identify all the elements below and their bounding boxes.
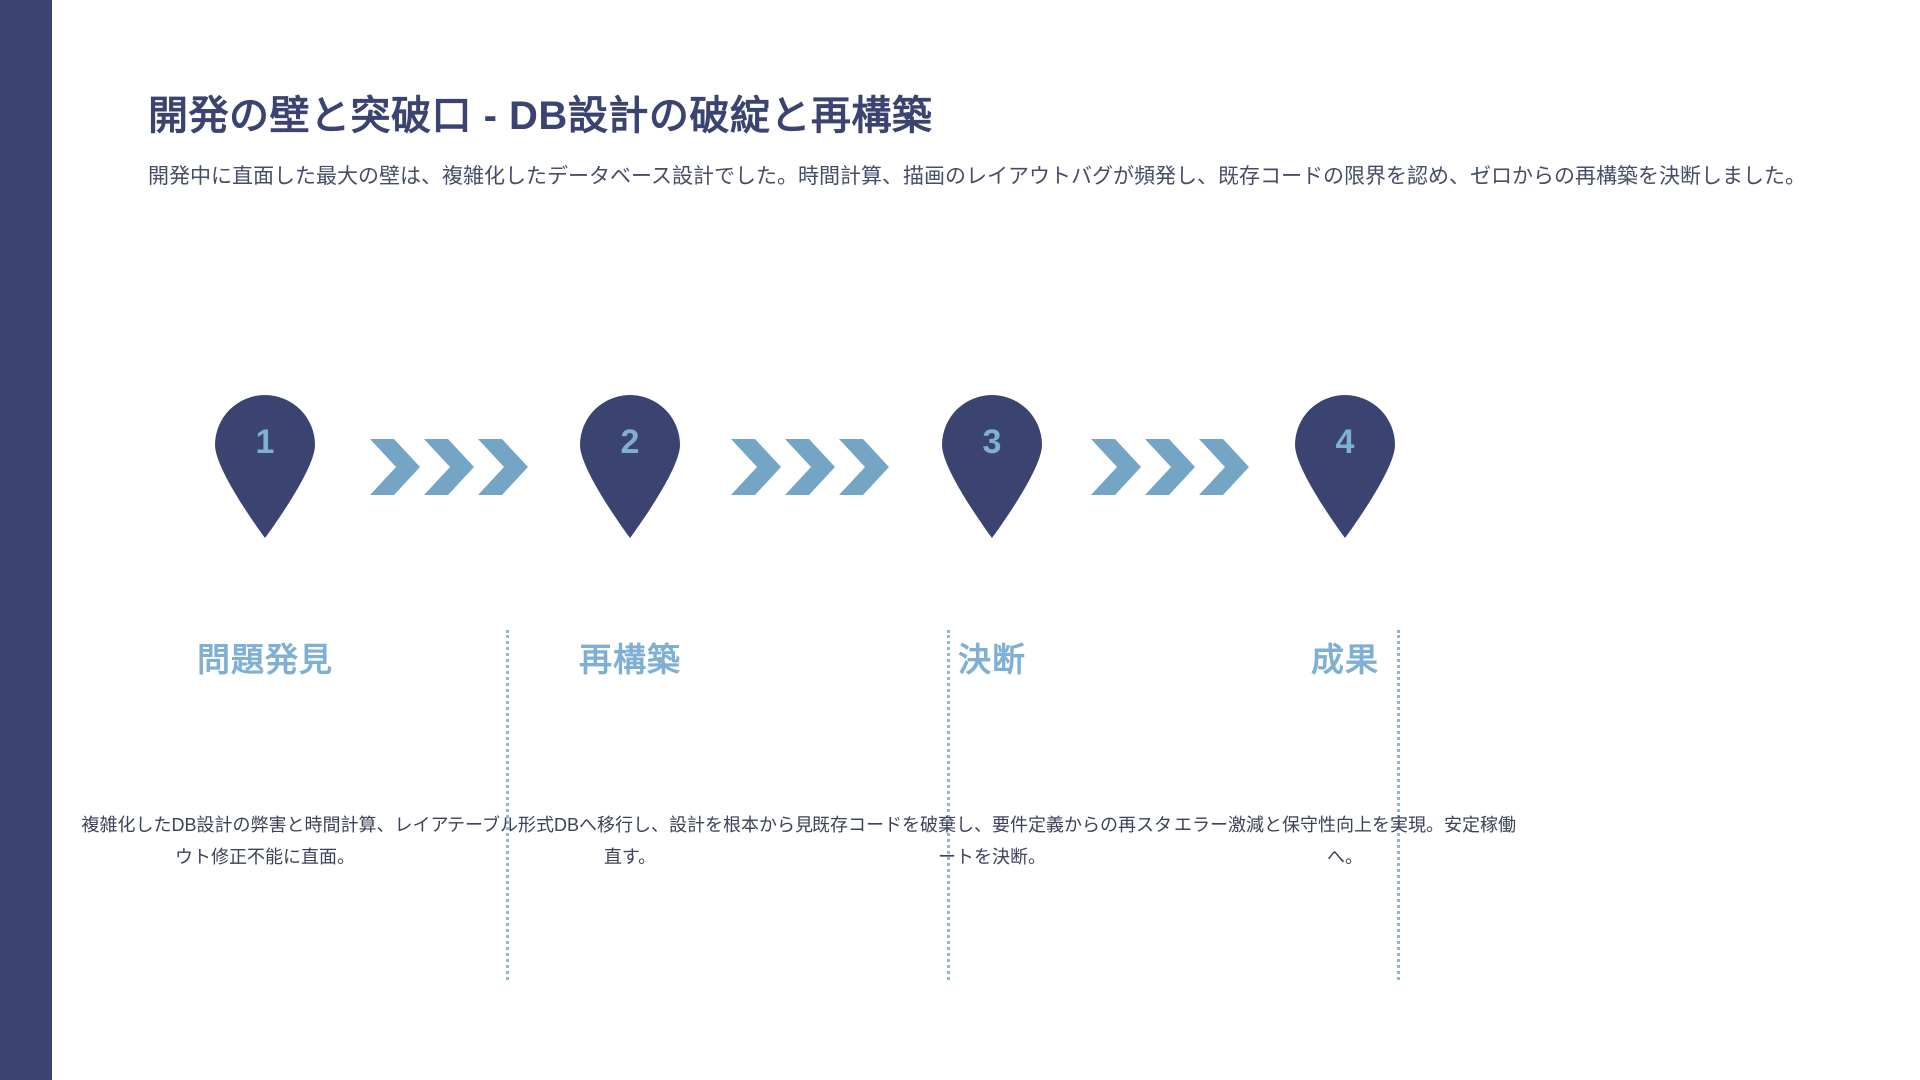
chevron-right-icon xyxy=(424,439,474,495)
slide-canvas: 開発の壁と突破口 - DB設計の破綻と再構築 開発中に直面した最大の壁は、複雑化… xyxy=(0,0,1920,1080)
left-accent-bar xyxy=(0,0,52,1080)
map-pin-icon: 1 xyxy=(209,395,321,538)
step-pin-2[interactable]: 2 xyxy=(571,395,689,540)
step-pin-4[interactable]: 4 xyxy=(1286,395,1404,540)
chevron-right-icon xyxy=(370,439,420,495)
chevron-right-icon xyxy=(785,439,835,495)
page-subtitle: 開発中に直面した最大の壁は、複雑化したデータベース設計でした。時間計算、描画のレ… xyxy=(148,160,1818,194)
step-description-1: 複雑化したDB設計の弊害と時間計算、レイアウト修正不能に直面。 xyxy=(80,810,450,873)
step-label-4: 成果 xyxy=(1175,640,1515,680)
chevron-right-icon xyxy=(478,439,528,495)
chevron-right-icon xyxy=(1145,439,1195,495)
map-pin-icon: 4 xyxy=(1289,395,1401,538)
map-pin-icon: 2 xyxy=(574,395,686,538)
step-pin-1[interactable]: 1 xyxy=(206,395,324,540)
step-description-3: 既存コードを破棄し、要件定義からの再スタートを決断。 xyxy=(807,810,1177,873)
step-description-2: テーブル形式DBへ移行し、設計を根本から見直す。 xyxy=(445,810,815,873)
chevron-group-3-4 xyxy=(1091,439,1249,495)
step-label-3: 決断 xyxy=(822,640,1162,680)
chevron-right-icon xyxy=(839,439,889,495)
chevron-right-icon xyxy=(1199,439,1249,495)
step-label-1: 問題発見 xyxy=(95,640,435,680)
step-pin-3[interactable]: 3 xyxy=(933,395,1051,540)
slide-header: 開発の壁と突破口 - DB設計の破綻と再構築 開発中に直面した最大の壁は、複雑化… xyxy=(148,92,1848,194)
page-title: 開発の壁と突破口 - DB設計の破綻と再構築 xyxy=(148,92,1848,140)
chevron-right-icon xyxy=(1091,439,1141,495)
step-description-row: 複雑化したDB設計の弊害と時間計算、レイアウト修正不能に直面。 テーブル形式DB… xyxy=(52,810,1920,900)
step-label-2: 再構築 xyxy=(460,640,800,680)
chevron-group-2-3 xyxy=(731,439,889,495)
chevron-right-icon xyxy=(731,439,781,495)
step-label-row: 問題発見 再構築 決断 成果 xyxy=(52,640,1920,700)
map-pin-icon: 3 xyxy=(936,395,1048,538)
step-description-4: エラー激減と保守性向上を実現。安定稼働へ。 xyxy=(1160,810,1530,873)
step-pin-row: 1 2 3 4 xyxy=(52,395,1920,540)
chevron-group-1-2 xyxy=(370,439,528,495)
